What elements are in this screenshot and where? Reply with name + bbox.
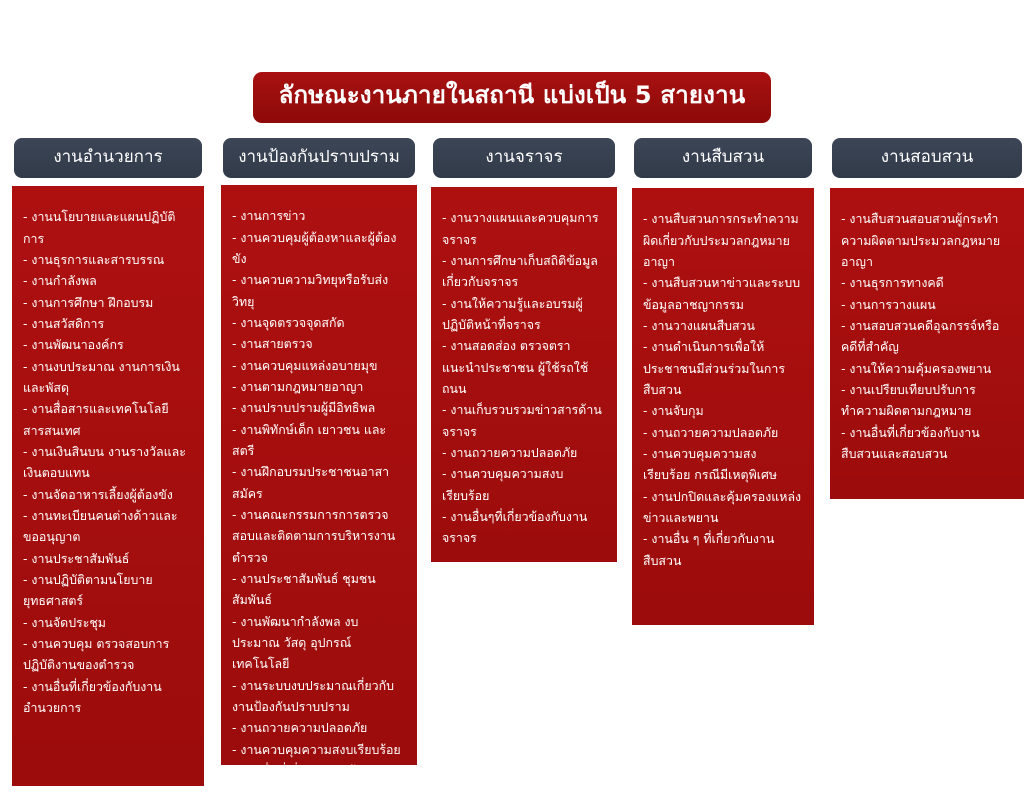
- list-item: - งานควบคุมความสงบเรียบร้อย: [232, 739, 406, 760]
- column-body-1: - งานนโยบายและแผนปฏิบัติการ - งานธุรการแ…: [12, 186, 204, 786]
- list-item: - งานทะเบียนคนต่างด้าวและขออนุญาต: [23, 505, 193, 548]
- column-ngan-sopsuan: งานสอบสวน - งานสืบสวนสอบสวนผู้กระทำความผ…: [830, 138, 1024, 499]
- column-header-1: งานอำนวยการ: [14, 138, 202, 178]
- list-item: - งานปฏิบัติตามนโยบายยุทธศาสตร์: [23, 569, 193, 612]
- list-item: - งานอื่น ๆ ที่เกี่ยวกับงานสืบสวน: [643, 528, 803, 571]
- list-item: - งานให้ความรู้และอบรมผู้ปฏิบัติหน้าที่จ…: [442, 293, 606, 336]
- column-body-3: - งานวางแผนและควบคุมการจราจร - งานการศึก…: [431, 187, 617, 562]
- list-item: - งานสืบสวนสอบสวนผู้กระทำความผิดตามประมว…: [841, 208, 1013, 272]
- column-ngan-charachon: งานจราจร - งานวางแผนและควบคุมการจราจร - …: [431, 138, 617, 562]
- list-item: - งานตามกฎหมายอาญา: [232, 376, 406, 397]
- list-item: - งานธุรการและสารบรรณ: [23, 249, 193, 270]
- column-body-5: - งานสืบสวนสอบสวนผู้กระทำความผิดตามประมว…: [830, 188, 1024, 499]
- list-item: - งานงบประมาณ งานการเงินและพัสดุ: [23, 356, 193, 399]
- list-item: - งานการวางแผน: [841, 294, 1013, 315]
- list-item: - งานระบบงบประมาณเกี่ยวกับงานป้องกันปราบ…: [232, 675, 406, 718]
- column-ngan-pongkan-prapram: งานป้องกันปราบปราม - งานการข่าว - งานควบ…: [221, 138, 417, 765]
- list-item: - งานจัดประชุม: [23, 612, 193, 633]
- list-item: - งานสายตรวจ: [232, 333, 406, 354]
- list-item: - งานคณะกรรมการการตรวจสอบและติดตามการบริ…: [232, 504, 406, 568]
- list-item: - งานสืบสวนหาข่าวและระบบข้อมูลอาชญากรรม: [643, 272, 803, 315]
- page-title: ลักษณะงานภายในสถานี แบ่งเป็น 5 สายงาน: [253, 72, 772, 123]
- list-item: - งานธุรการทางคดี: [841, 272, 1013, 293]
- list-item: - งานประชาสัมพันธ์: [23, 548, 193, 569]
- list-item: - งานวางแผนสืบสวน: [643, 315, 803, 336]
- list-item: - งานการศึกษา ฝึกอบรม: [23, 292, 193, 313]
- list-item: - งานควบคุมความสงบเรียบร้อย: [442, 463, 606, 506]
- column-ngan-amnuaikan: งานอำนวยการ - งานนโยบายและแผนปฏิบัติการ …: [12, 138, 204, 786]
- column-header-2: งานป้องกันปราบปราม: [223, 138, 415, 178]
- list-item: - งานอื่นๆที่เกี่ยวข้องกับงานจราจร: [442, 506, 606, 549]
- list-item: - งานควบคุม ตรวจสอบการปฏิบัติงานของตำรวจ: [23, 633, 193, 676]
- list-item: - งานถวายความปลอดภัย: [643, 422, 803, 443]
- list-item: - งานสืบสวนการกระทำความผิดเกี่ยวกับประมว…: [643, 208, 803, 272]
- list-item: - งานจุดตรวจจุดสกัด: [232, 312, 406, 333]
- list-item: - งานควบคุมแหล่งอบายมุข: [232, 355, 406, 376]
- list-item: - งานฝึกอบรมประชาชนอาสาสมัคร: [232, 461, 406, 504]
- list-item: - งานการข่าว: [232, 205, 406, 226]
- list-item: - งานให้ความคุ้มครองพยาน: [841, 358, 1013, 379]
- column-header-5: งานสอบสวน: [832, 138, 1022, 178]
- list-item: - งานประชาสัมพันธ์ ชุมชนสัมพันธ์: [232, 568, 406, 611]
- title-banner-wrap: ลักษณะงานภายในสถานี แบ่งเป็น 5 สายงาน: [0, 72, 1024, 123]
- list-item: - งานเปรียบเทียบปรับการทำความผิดตามกฎหมา…: [841, 379, 1013, 422]
- list-item: - งานถวายความปลอดภัย: [442, 442, 606, 463]
- list-item: - งานปกปิดและคุ้มครองแหล่งข่าวและพยาน: [643, 486, 803, 529]
- list-item: - งานควบคุมความสงเรียบร้อย กรณีมีเหตุพิเ…: [643, 443, 803, 486]
- list-item: - งานสอดส่อง ตรวจตรา แนะนำประชาชน ผู้ใช้…: [442, 335, 606, 399]
- column-header-4: งานสืบสวน: [634, 138, 812, 178]
- column-ngan-suepsuan: งานสืบสวน - งานสืบสวนการกระทำความผิดเกี่…: [632, 138, 814, 625]
- list-item: - งานปราบปรามผู้มีอิทธิพล: [232, 397, 406, 418]
- list-item: - งานอื่นที่เกี่ยวกับงานป้องกันปราบปราม: [232, 760, 406, 803]
- list-item: - งานสื่อสารและเทคโนโลยีสารสนเทศ: [23, 398, 193, 441]
- list-item: - งานกำลังพล: [23, 270, 193, 291]
- list-item: - งานถวายความปลอดภัย: [232, 717, 406, 738]
- column-header-3: งานจราจร: [433, 138, 615, 178]
- list-item: - งานอื่นที่เกี่ยวข้องกับงานสืบสวนและสอบ…: [841, 422, 1013, 465]
- list-item: - งานควบคุมผู้ต้องหาและผู้ต้องขัง: [232, 227, 406, 270]
- list-item: - งานดำเนินการเพื่อให้ประชาชนมีส่วนร่วมใ…: [643, 336, 803, 400]
- list-item: - งานอื่นที่เกี่ยวข้องกับงานอำนวยการ: [23, 676, 193, 719]
- column-body-2: - งานการข่าว - งานควบคุมผู้ต้องหาและผู้ต…: [221, 185, 417, 765]
- list-item: - งานการศึกษาเก็บสถิติข้อมูลเกี่ยวกับจรา…: [442, 250, 606, 293]
- list-item: - งานพัฒนาองค์กร: [23, 334, 193, 355]
- list-item: - งานเงินสินบน งานรางวัลและเงินตอบแทน: [23, 441, 193, 484]
- list-item: - งานสอบสวนคดีอุฉกรรจ์หรือคดีที่สำคัญ: [841, 315, 1013, 358]
- list-item: - งานพิทักษ์เด็ก เยาวชน และสตรี: [232, 419, 406, 462]
- list-item: - งานวางแผนและควบคุมการจราจร: [442, 207, 606, 250]
- list-item: - งานเก็บรวบรวมข่าวสารด้านจราจร: [442, 399, 606, 442]
- list-item: - งานควบความวิทยุหรือรับส่งวิทยุ: [232, 269, 406, 312]
- list-item: - งานสวัสดิการ: [23, 313, 193, 334]
- columns-container: งานอำนวยการ - งานนโยบายและแผนปฏิบัติการ …: [0, 138, 1024, 786]
- list-item: - งานนโยบายและแผนปฏิบัติการ: [23, 206, 193, 249]
- list-item: - งานจับกุม: [643, 400, 803, 421]
- column-body-4: - งานสืบสวนการกระทำความผิดเกี่ยวกับประมว…: [632, 188, 814, 625]
- list-item: - งานจัดอาหารเลี้ยงผู้ต้องขัง: [23, 484, 193, 505]
- list-item: - งานพัฒนากำลังพล งบประมาณ วัสดุ อุปกรณ์…: [232, 611, 406, 675]
